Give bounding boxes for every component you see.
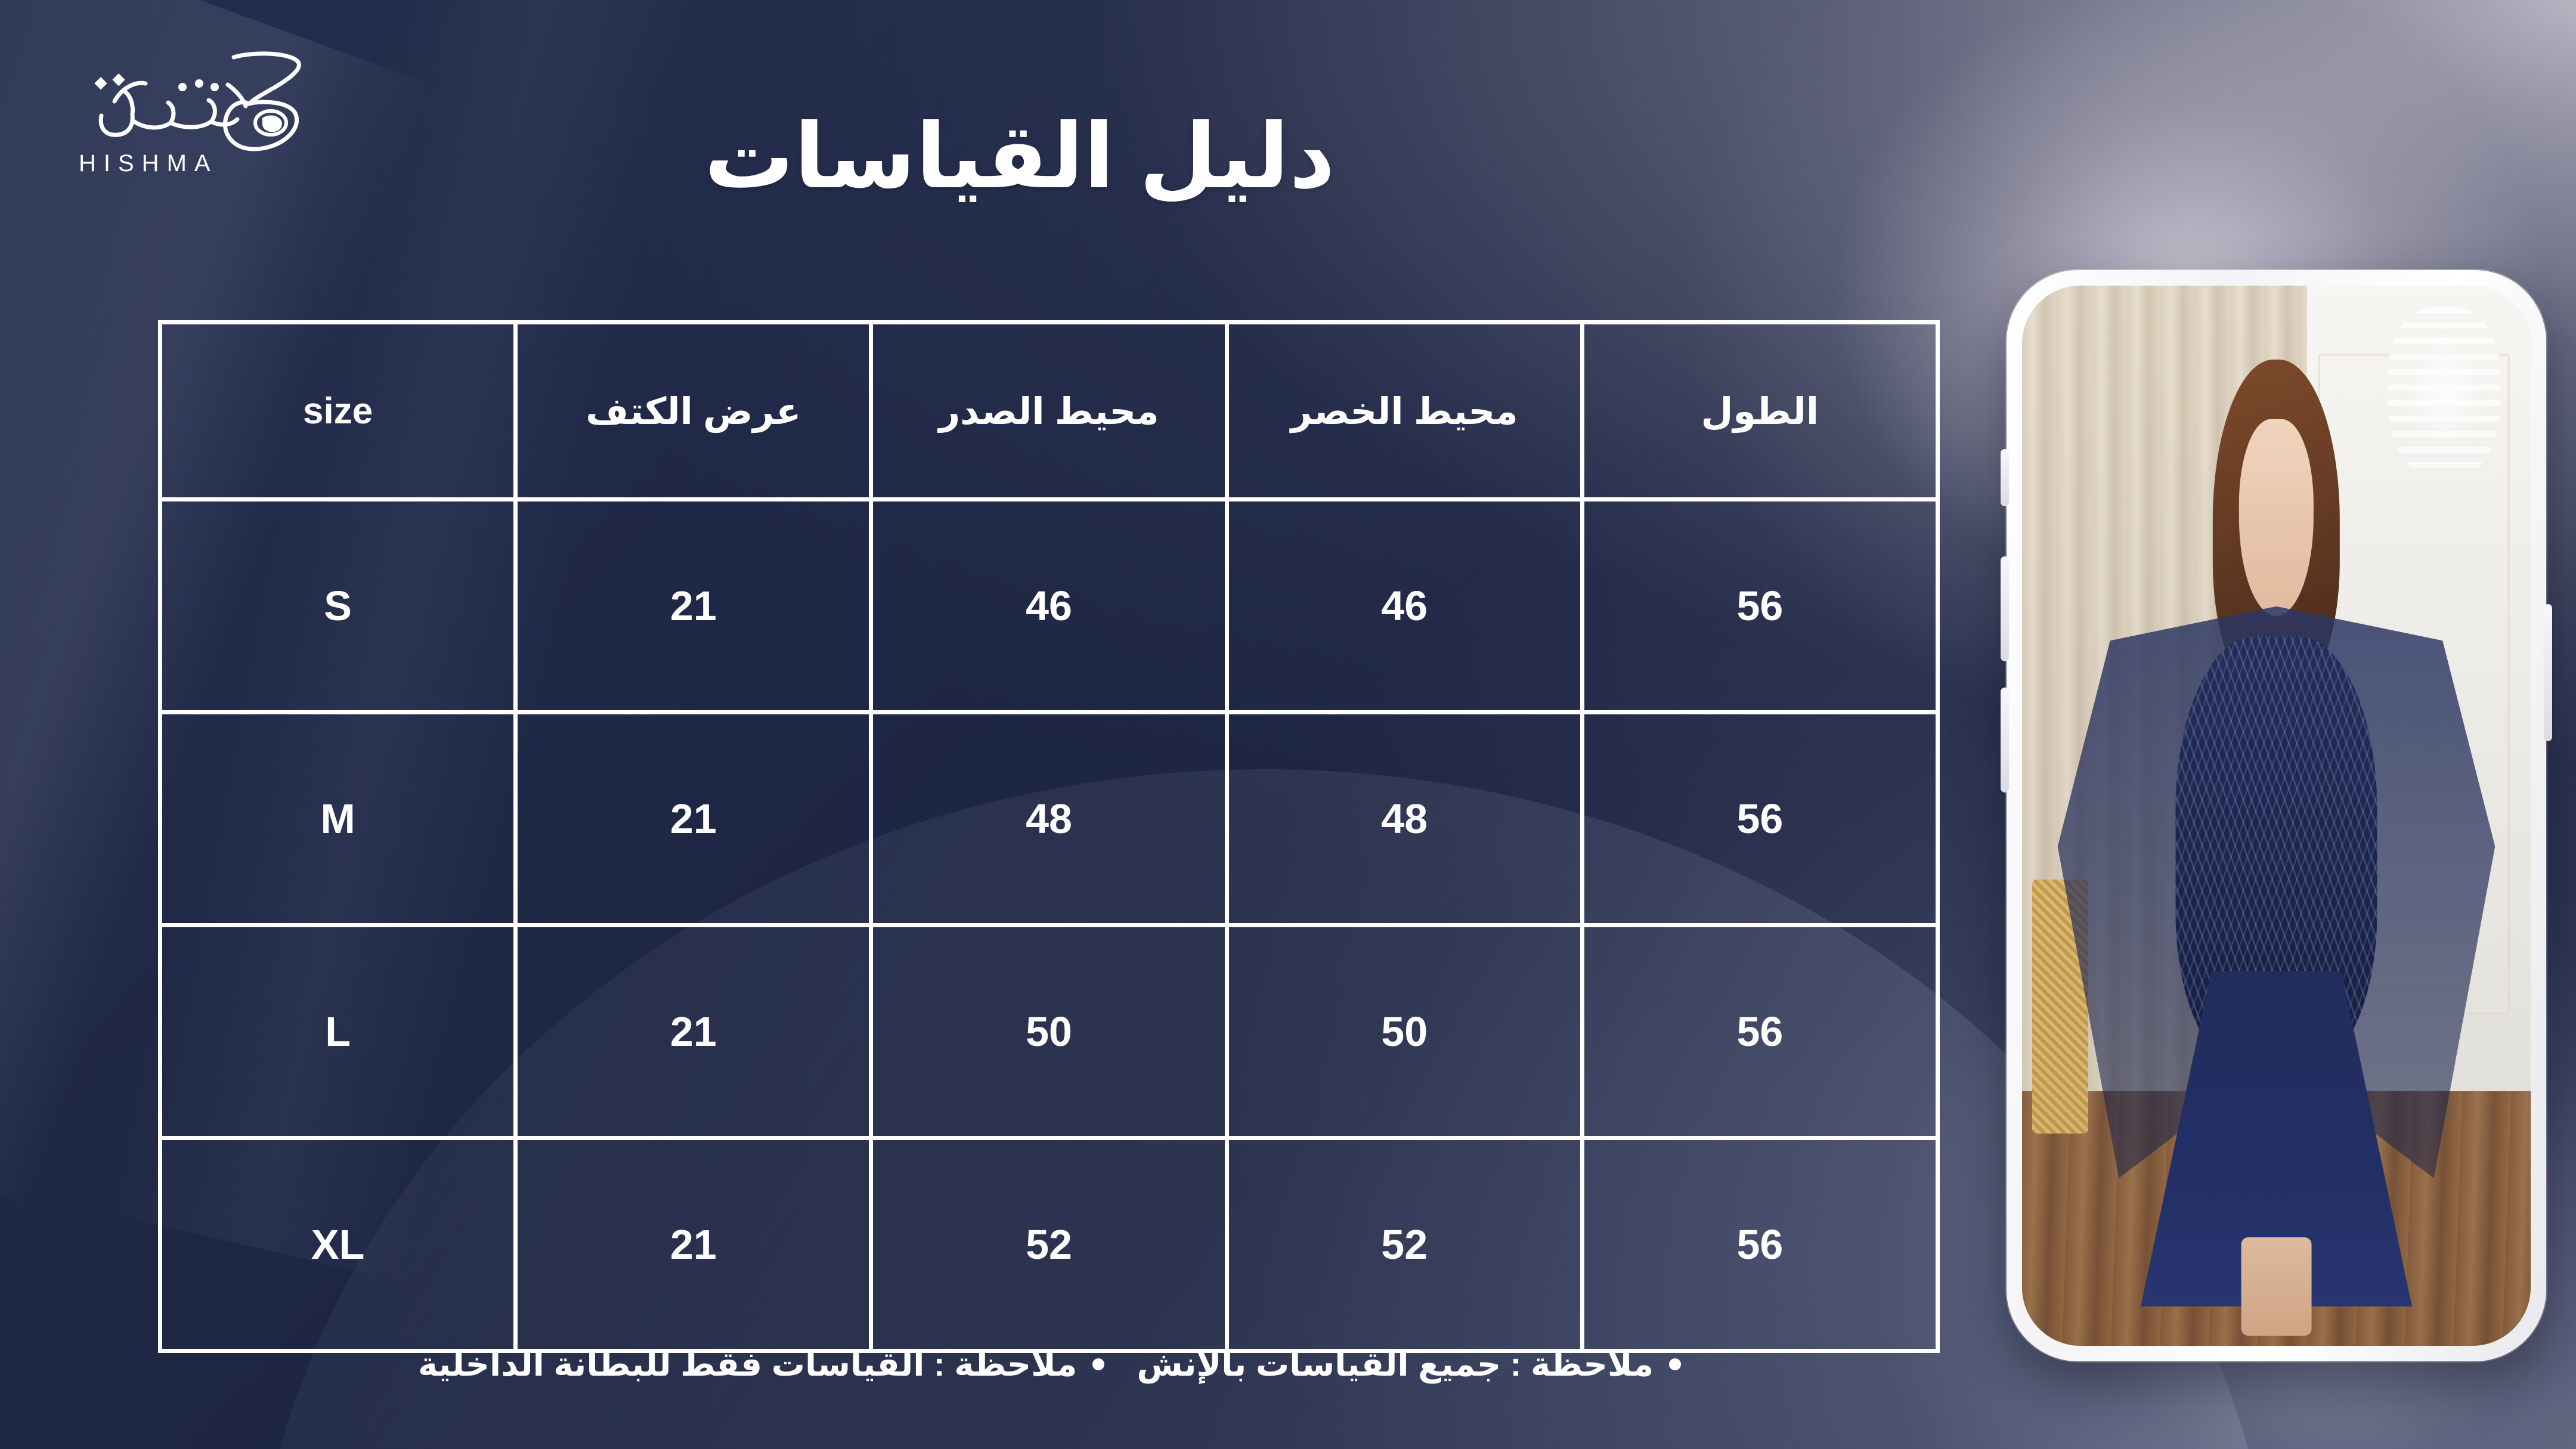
cell-shoulder: 21 xyxy=(516,1138,871,1351)
cell-shoulder: 21 xyxy=(516,500,871,713)
photo-overlay xyxy=(2022,286,2531,1346)
bullet-icon xyxy=(1669,1358,1681,1370)
table-row: 56 46 46 21 S xyxy=(160,500,1938,713)
cell-size: S xyxy=(160,500,516,713)
product-photo xyxy=(2022,286,2531,1346)
table-row: 56 48 48 21 M xyxy=(160,713,1938,925)
phone-mockup xyxy=(2007,270,2546,1361)
table-row: 56 52 52 21 XL xyxy=(160,1138,1938,1351)
footer-notes: ملاحظة : جميع القياسات بالإنش ملاحظة : ا… xyxy=(158,1345,1941,1384)
cell-size: M xyxy=(160,713,516,925)
cell-chest: 50 xyxy=(871,925,1227,1138)
cell-length: 56 xyxy=(1582,925,1937,1138)
column-header-length: الطول xyxy=(1582,323,1937,500)
cell-chest: 48 xyxy=(871,713,1227,925)
note-lining: ملاحظة : القياسات فقط للبطانة الداخلية xyxy=(418,1345,1104,1384)
cell-waist: 50 xyxy=(1227,925,1582,1138)
cell-shoulder: 21 xyxy=(516,713,871,925)
page-title: دليل القياسات xyxy=(0,107,2039,206)
note-inches: ملاحظة : جميع القياسات بالإنش xyxy=(1137,1345,1681,1384)
cell-waist: 48 xyxy=(1227,713,1582,925)
cell-length: 56 xyxy=(1582,500,1937,713)
cell-chest: 46 xyxy=(871,500,1227,713)
cell-shoulder: 21 xyxy=(516,925,871,1138)
cell-size: XL xyxy=(160,1138,516,1351)
cell-chest: 52 xyxy=(871,1138,1227,1351)
cell-waist: 52 xyxy=(1227,1138,1582,1351)
bullet-icon xyxy=(1092,1358,1104,1370)
cell-length: 56 xyxy=(1582,1138,1937,1351)
silence-switch-button[interactable] xyxy=(2001,449,2009,506)
column-header-chest: محيط الصدر xyxy=(871,323,1227,500)
column-header-shoulder: عرض الكتف xyxy=(516,323,871,500)
volume-down-button[interactable] xyxy=(2001,688,2009,792)
phone-screen xyxy=(2022,286,2531,1346)
cell-length: 56 xyxy=(1582,713,1937,925)
column-header-size: size xyxy=(160,323,516,500)
table-row: 56 50 50 21 L xyxy=(160,925,1938,1138)
table-header-row: الطول محيط الخصر محيط الصدر عرض الكتف si… xyxy=(160,323,1938,500)
cell-size: L xyxy=(160,925,516,1138)
size-guide-poster: HISHMA دليل القياسات الطول محيط الخصر مح… xyxy=(0,0,2576,1449)
note-inches-text: ملاحظة : جميع القياسات بالإنش xyxy=(1137,1345,1654,1384)
cell-waist: 46 xyxy=(1227,500,1582,713)
volume-up-button[interactable] xyxy=(2001,556,2009,661)
power-button[interactable] xyxy=(2544,604,2552,741)
note-lining-text: ملاحظة : القياسات فقط للبطانة الداخلية xyxy=(418,1345,1077,1384)
column-header-waist: محيط الخصر xyxy=(1227,323,1582,500)
size-table: الطول محيط الخصر محيط الصدر عرض الكتف si… xyxy=(158,320,1940,1353)
size-table-container: الطول محيط الخصر محيط الصدر عرض الكتف si… xyxy=(158,320,1940,1328)
